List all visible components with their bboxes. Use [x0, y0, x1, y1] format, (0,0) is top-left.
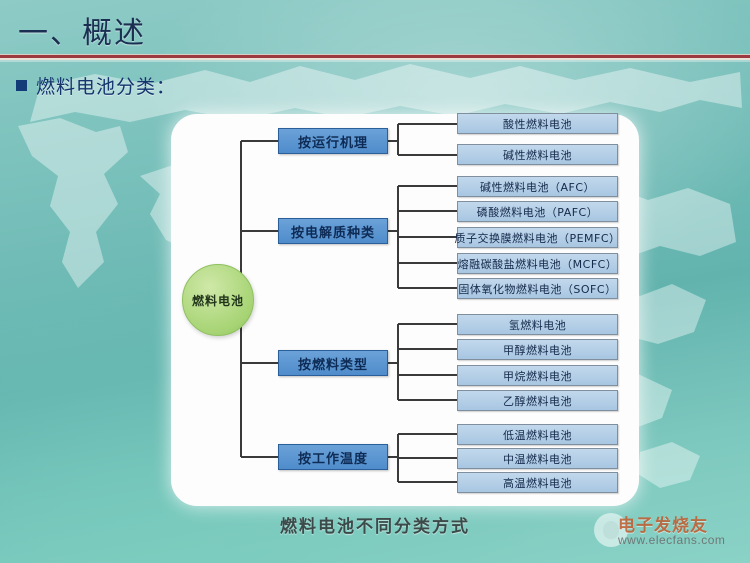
category-node-operating-temperature[interactable]: 按工作温度 [278, 444, 388, 470]
leaf-node-label: 高温燃料电池 [503, 475, 572, 491]
leaf-node-label: 低温燃料电池 [503, 427, 572, 443]
leaf-node-label: 乙醇燃料电池 [503, 393, 572, 409]
category-node-label: 按燃料类型 [298, 354, 368, 373]
watermark: 电子发烧友 www.elecfans.com [592, 503, 742, 559]
leaf-node-label: 碱性燃料电池 [503, 147, 572, 163]
leaf-node-label: 酸性燃料电池 [503, 116, 572, 132]
leaf-node-label: 碱性燃料电池（AFC） [480, 179, 595, 195]
leaf-node-label: 磷酸燃料电池（PAFC） [477, 204, 598, 220]
leaf-node-alkaline-fuel-cell[interactable]: 碱性燃料电池 [457, 144, 618, 165]
root-node-label: 燃料电池 [192, 292, 244, 309]
header-divider-highlight [0, 60, 750, 62]
leaf-node-label: 固体氧化物燃料电池（SOFC） [458, 281, 616, 297]
category-node-label: 按运行机理 [298, 132, 368, 151]
leaf-node-methane-fuel-cell[interactable]: 甲烷燃料电池 [457, 365, 618, 386]
root-node-fuel-cell[interactable]: 燃料电池 [182, 264, 254, 336]
leaf-node-afc[interactable]: 碱性燃料电池（AFC） [457, 176, 618, 197]
leaf-node-low-temperature-fuel-cell[interactable]: 低温燃料电池 [457, 424, 618, 445]
section-bullet-label: 燃料电池分类： [36, 72, 176, 99]
leaf-node-acidic-fuel-cell[interactable]: 酸性燃料电池 [457, 113, 618, 134]
leaf-node-mcfc[interactable]: 熔融碳酸盐燃料电池（MCFC） [457, 253, 618, 274]
leaf-node-medium-temperature-fuel-cell[interactable]: 中温燃料电池 [457, 448, 618, 469]
category-node-operating-principle[interactable]: 按运行机理 [278, 128, 388, 154]
leaf-node-label: 甲烷燃料电池 [503, 368, 572, 384]
leaf-node-label: 中温燃料电池 [503, 451, 572, 467]
leaf-node-pafc[interactable]: 磷酸燃料电池（PAFC） [457, 201, 618, 222]
leaf-node-pemfc[interactable]: 质子交换膜燃料电池（PEMFC） [457, 227, 618, 248]
leaf-node-sofc[interactable]: 固体氧化物燃料电池（SOFC） [457, 278, 618, 299]
leaf-node-label: 质子交换膜燃料电池（PEMFC） [454, 230, 620, 246]
watermark-url: www.elecfans.com [618, 533, 725, 547]
page-title: 一、概述 [18, 8, 146, 52]
leaf-node-ethanol-fuel-cell[interactable]: 乙醇燃料电池 [457, 390, 618, 411]
leaf-node-label: 甲醇燃料电池 [503, 342, 572, 358]
leaf-node-label: 氢燃料电池 [509, 317, 567, 333]
leaf-node-methanol-fuel-cell[interactable]: 甲醇燃料电池 [457, 339, 618, 360]
section-bullet: 燃料电池分类： [16, 72, 176, 99]
category-node-fuel-type[interactable]: 按燃料类型 [278, 350, 388, 376]
leaf-node-high-temperature-fuel-cell[interactable]: 高温燃料电池 [457, 472, 618, 493]
category-node-electrolyte-type[interactable]: 按电解质种类 [278, 218, 388, 244]
category-node-label: 按工作温度 [298, 448, 368, 467]
category-node-label: 按电解质种类 [291, 222, 375, 241]
bullet-square-icon [16, 80, 27, 91]
slide: 一、概述 燃料电池分类： [0, 0, 750, 563]
leaf-node-label: 熔融碳酸盐燃料电池（MCFC） [458, 256, 618, 272]
leaf-node-hydrogen-fuel-cell[interactable]: 氢燃料电池 [457, 314, 618, 335]
